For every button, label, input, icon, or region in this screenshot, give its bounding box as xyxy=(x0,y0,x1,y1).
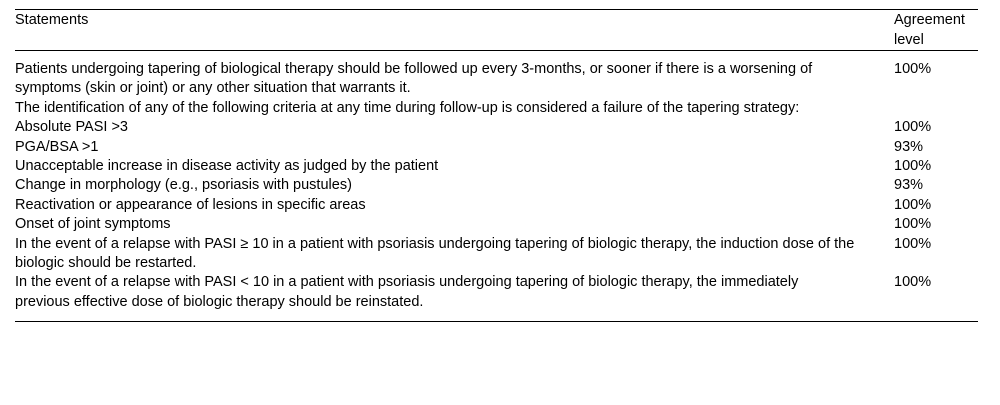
row-agreement-value: 100% xyxy=(894,61,931,77)
table-bottom-rule xyxy=(15,321,978,322)
table-row: Reactivation or appearance of lesions in… xyxy=(15,196,978,215)
table-row: PGA/BSA >1 93% xyxy=(15,138,978,157)
row-agreement-cell xyxy=(888,99,978,118)
row-statement-cell: PGA/BSA >1 xyxy=(15,138,888,157)
row-statement-text: Change in morphology (e.g., psoriasis wi… xyxy=(15,176,855,195)
row-statement-text: Absolute PASI >3 xyxy=(15,118,855,137)
row-agreement-cell: 100% xyxy=(888,235,978,274)
table-body: Patients undergoing tapering of biologic… xyxy=(15,51,978,321)
table-row: Unacceptable increase in disease activit… xyxy=(15,157,978,176)
row-statement-text: In the event of a relapse with PASI < 10… xyxy=(15,273,855,312)
column-header-agreement-line1: Agreement xyxy=(894,10,978,30)
table-row: In the event of a relapse with PASI < 10… xyxy=(15,273,978,321)
table-row: In the event of a relapse with PASI ≥ 10… xyxy=(15,235,978,274)
row-agreement-cell: 100% xyxy=(888,196,978,215)
row-agreement-cell: 93% xyxy=(888,176,978,195)
row-agreement-cell: 93% xyxy=(888,138,978,157)
row-statement-cell: In the event of a relapse with PASI < 10… xyxy=(15,273,888,321)
row-agreement-value: 93% xyxy=(894,139,923,155)
table-row: Patients undergoing tapering of biologic… xyxy=(15,51,978,99)
column-header-statements-label: Statements xyxy=(15,12,88,28)
statements-table-body-wrapper: Patients undergoing tapering of biologic… xyxy=(15,51,978,321)
statements-table: Statements Agreement level xyxy=(15,10,978,50)
row-statement-cell: Onset of joint symptoms xyxy=(15,215,888,234)
row-statement-text: The identification of any of the followi… xyxy=(15,99,855,118)
row-agreement-cell: 100% xyxy=(888,118,978,137)
row-statement-cell: Absolute PASI >3 xyxy=(15,118,888,137)
row-agreement-value: 100% xyxy=(894,274,931,290)
row-agreement-value: 100% xyxy=(894,119,931,135)
table-row: The identification of any of the followi… xyxy=(15,99,978,118)
row-statement-cell: Reactivation or appearance of lesions in… xyxy=(15,196,888,215)
row-statement-cell: In the event of a relapse with PASI ≥ 10… xyxy=(15,235,888,274)
row-statement-text: Unacceptable increase in disease activit… xyxy=(15,157,855,176)
row-statement-text: In the event of a relapse with PASI ≥ 10… xyxy=(15,235,855,274)
row-statement-text: Onset of joint symptoms xyxy=(15,215,855,234)
row-agreement-cell: 100% xyxy=(888,273,978,321)
row-statement-cell: Unacceptable increase in disease activit… xyxy=(15,157,888,176)
row-statement-cell: Change in morphology (e.g., psoriasis wi… xyxy=(15,176,888,195)
row-agreement-value: 100% xyxy=(894,236,931,252)
row-statement-cell: The identification of any of the followi… xyxy=(15,99,888,118)
header-row: Statements Agreement level xyxy=(15,10,978,50)
row-agreement-cell: 100% xyxy=(888,51,978,99)
row-agreement-value: 100% xyxy=(894,216,931,232)
row-statement-text: PGA/BSA >1 xyxy=(15,138,855,157)
column-header-agreement-level: Agreement level xyxy=(888,10,978,50)
table-row: Absolute PASI >3 100% xyxy=(15,118,978,137)
row-agreement-cell: 100% xyxy=(888,157,978,176)
row-statement-text: Patients undergoing tapering of biologic… xyxy=(15,60,855,99)
table-row: Onset of joint symptoms 100% xyxy=(15,215,978,234)
row-statement-text: Reactivation or appearance of lesions in… xyxy=(15,196,855,215)
column-header-statements: Statements xyxy=(15,10,888,50)
row-agreement-value: 93% xyxy=(894,177,923,193)
table-row: Change in morphology (e.g., psoriasis wi… xyxy=(15,176,978,195)
column-header-agreement-line2: level xyxy=(894,30,978,50)
row-statement-cell: Patients undergoing tapering of biologic… xyxy=(15,51,888,99)
table-header: Statements Agreement level xyxy=(15,10,978,50)
statements-table-container: Statements Agreement level Patients unde… xyxy=(15,9,978,322)
row-agreement-cell: 100% xyxy=(888,215,978,234)
row-agreement-value: 100% xyxy=(894,197,931,213)
row-agreement-value: 100% xyxy=(894,158,931,174)
